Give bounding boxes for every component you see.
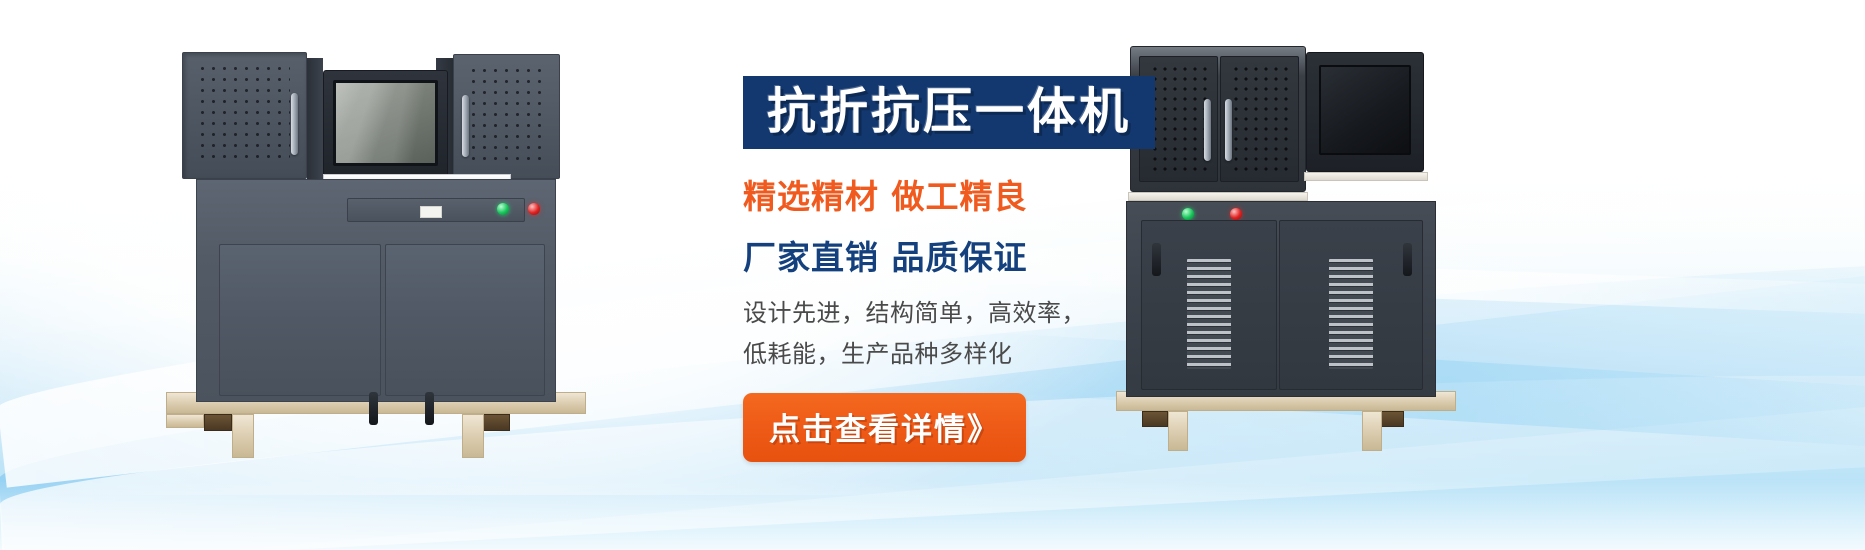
background-bottom-fade <box>0 480 1865 550</box>
pallet-leg-right <box>1362 411 1382 451</box>
banner-copy-block: 抗折抗压一体机 精选精材 做工精良 厂家直销 品质保证 设计先进，结构简单，高效… <box>743 76 1273 462</box>
view-details-button[interactable]: 点击查看详情》 <box>743 393 1026 462</box>
perforation-pattern <box>468 65 543 166</box>
cabinet-handle <box>291 93 298 155</box>
promo-banner: 抗折抗压一体机 精选精材 做工精良 厂家直销 品质保证 设计先进，结构简单，高效… <box>0 0 1865 550</box>
subhead-orange: 精选精材 做工精良 <box>743 170 1273 218</box>
pallet-leg-mid <box>166 414 204 428</box>
door-handle-right <box>1403 243 1412 276</box>
drawer-label <box>420 206 442 218</box>
door-handle-left <box>369 392 378 425</box>
description-line-1: 设计先进，结构简单，高效率， <box>743 294 1273 333</box>
left-upper-cabinet-door <box>182 52 307 179</box>
louvered-vent-right <box>1329 259 1373 369</box>
cabinet-handle <box>462 95 469 157</box>
headline-text: 抗折抗压一体机 <box>767 87 1131 136</box>
left-product-image <box>178 52 578 427</box>
monitor-screen <box>333 80 438 166</box>
description-line-2: 低耗能，生产品种多样化 <box>743 335 1273 374</box>
right-control-monitor <box>1306 52 1424 172</box>
door-handle-right <box>425 392 434 425</box>
left-lower-door-right <box>385 244 545 396</box>
left-machine-body <box>196 179 556 402</box>
view-details-label: 点击查看详情》 <box>769 412 1000 448</box>
left-lower-door-left <box>219 244 381 396</box>
power-indicator-green-icon <box>497 203 509 215</box>
pallet-gap-left <box>204 414 232 431</box>
left-machine-side-panel-1 <box>307 58 323 179</box>
pallet-leg-left <box>232 414 254 458</box>
right-white-strip-monitor <box>1304 172 1428 181</box>
right-lower-door-right <box>1279 220 1423 390</box>
pallet-gap-right <box>482 414 510 431</box>
stop-indicator-red-icon <box>528 203 540 215</box>
left-upper-cabinet-door-right <box>453 54 560 179</box>
subhead-blue: 厂家直销 品质保证 <box>743 231 1273 279</box>
perforation-pattern <box>197 63 290 166</box>
pallet-leg-right <box>462 414 484 458</box>
headline-bar: 抗折抗压一体机 <box>743 76 1155 149</box>
monitor-screen <box>1319 65 1411 155</box>
left-control-monitor <box>323 70 448 180</box>
